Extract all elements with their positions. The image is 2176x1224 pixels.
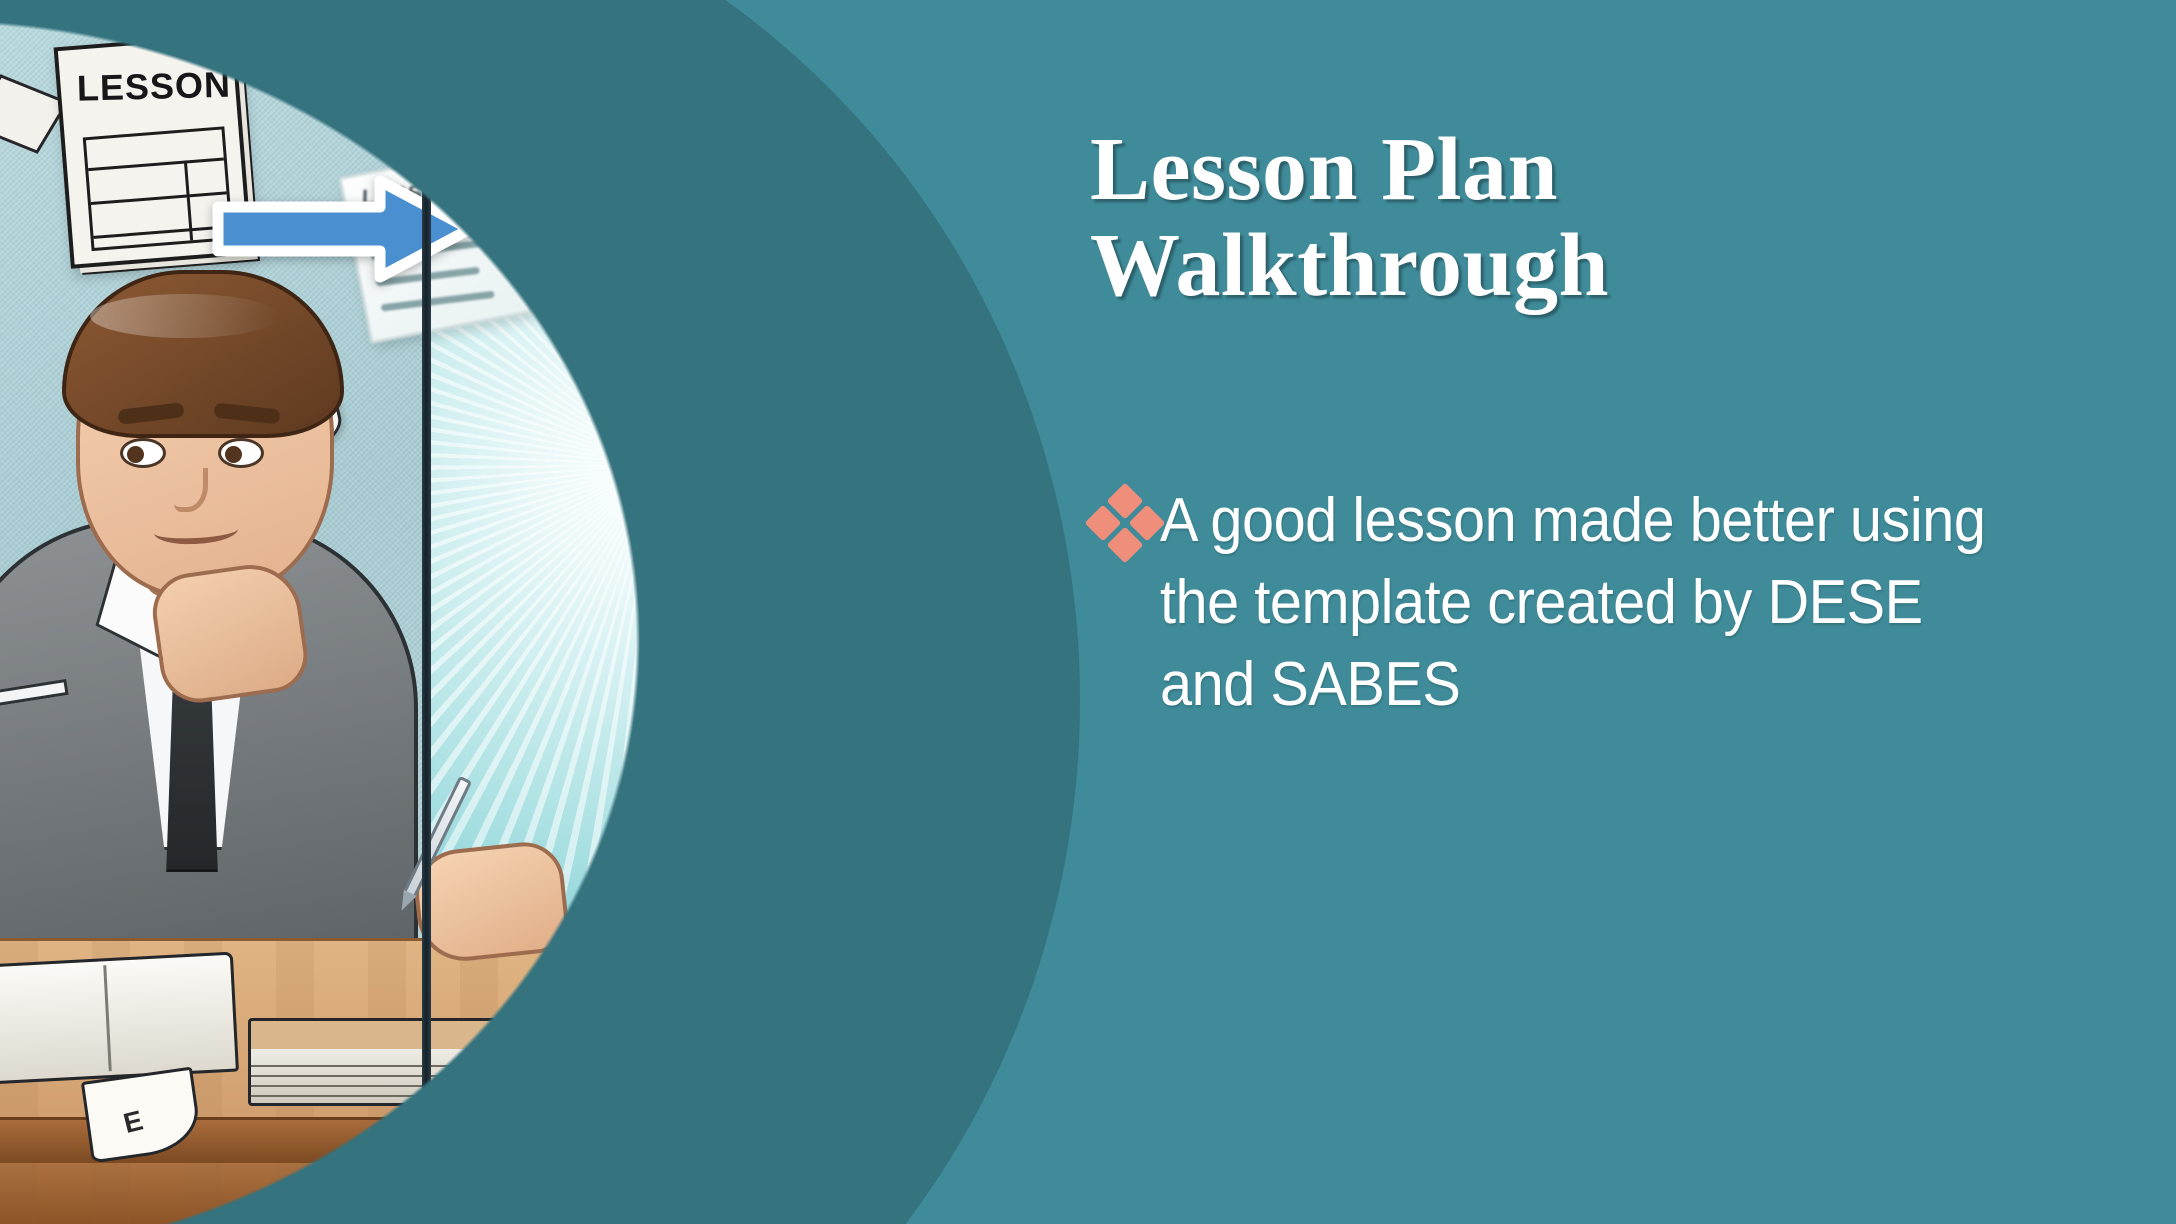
hand-on-chin	[148, 558, 313, 707]
diamond-cluster-bullet-icon	[1090, 488, 1160, 548]
eye-right	[218, 438, 264, 468]
person-after-blue-suit	[867, 232, 934, 952]
lesson-paper-title: LESSON	[76, 64, 231, 110]
page-title-line1: Lesson Plan	[1090, 122, 1990, 218]
illustration-image: LESSON	[0, 0, 934, 1224]
bullet-list-item: A good lesson made better using the temp…	[1090, 480, 2050, 725]
text-content-column: Lesson Plan Walkthrough A good lesson ma…	[1090, 0, 2090, 1224]
lesson-plan-title-line1: LESSON	[482, 33, 645, 89]
open-book-right	[634, 985, 934, 1125]
suit-shoulders	[851, 532, 934, 982]
right-arrow-icon	[212, 173, 476, 285]
panel-divider	[422, 0, 431, 1224]
paper-stack	[248, 1018, 536, 1106]
slide-canvas: LESSON	[0, 0, 2176, 1224]
eye-left	[120, 438, 166, 468]
page-title-line2: Walkthrough	[1090, 218, 1990, 314]
bullet-text: A good lesson made better using the temp…	[1160, 480, 1988, 725]
person-before-gray-suit	[0, 250, 438, 950]
lesson-plan-title-line2: PLAN	[497, 81, 606, 130]
lesson-paper-grid	[83, 126, 234, 251]
loose-note-text: E	[120, 1105, 146, 1141]
hair	[62, 270, 344, 438]
page-title: Lesson Plan Walkthrough	[1090, 122, 1990, 315]
open-book-left	[0, 952, 239, 1085]
